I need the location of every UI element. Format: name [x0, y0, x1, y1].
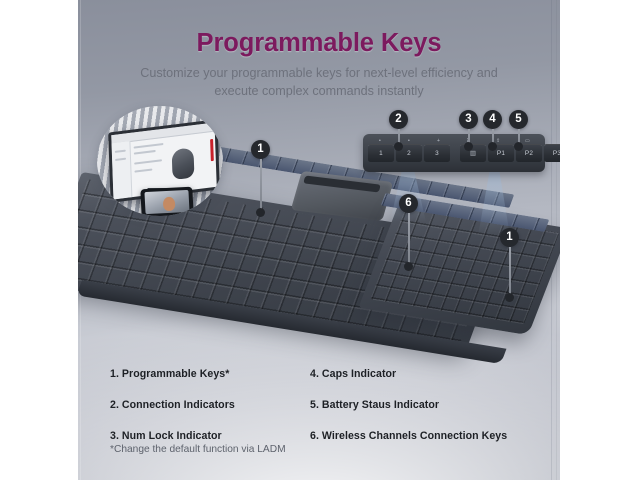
software-text-line — [134, 143, 164, 149]
callout-tip — [488, 142, 497, 151]
programmable-key-group: ▥ P1 P2 P3 — [460, 144, 560, 162]
callout-badge: 1 — [500, 228, 519, 247]
wireless-channel-key-group: 1 2 3 — [368, 144, 450, 162]
callout-tip — [256, 208, 265, 217]
callout-tip — [514, 142, 523, 151]
callout-badge: 5 — [509, 110, 528, 129]
phone-device — [140, 187, 193, 216]
callout-stem — [260, 159, 262, 211]
programmable-key-p3[interactable]: P3 — [544, 144, 560, 162]
battery-led-label: ▭ — [525, 138, 530, 144]
page-subtitle: Customize your programmable keys for nex… — [118, 64, 520, 100]
software-text-line — [134, 168, 152, 172]
software-text-line — [134, 159, 162, 164]
legend-footnote: *Change the default function via LADM — [110, 444, 286, 455]
legend-item-2: 2. Connection Indicators — [110, 399, 310, 411]
callout-tip — [394, 142, 403, 151]
product-feature-panel: Programmable Keys Customize your program… — [78, 0, 560, 480]
channel-key-1[interactable]: 1 — [368, 144, 394, 162]
connection-led-3-label: + — [437, 138, 440, 144]
caps-led-label: ⇪ — [496, 138, 500, 144]
callout-tip — [505, 293, 514, 302]
channel-key-3[interactable]: 3 — [424, 144, 450, 162]
legend-item-3: 3. Num Lock Indicator — [110, 430, 310, 442]
software-inset-photo — [97, 106, 223, 216]
callout-tip — [404, 262, 413, 271]
connection-led-2-label: • — [408, 138, 410, 144]
callout-tip — [464, 142, 473, 151]
callout-stem — [509, 247, 511, 296]
callout-stem — [408, 213, 410, 265]
legend-item-1: 1. Programmable Keys* — [110, 368, 310, 380]
legend-item-5: 5. Battery Staus Indicator — [310, 399, 540, 411]
callout-badge: 2 — [389, 110, 408, 129]
mouse-product-render — [172, 147, 195, 180]
legend-item-4: 4. Caps Indicator — [310, 368, 540, 380]
page-title: Programmable Keys — [78, 29, 560, 58]
phone-screen — [144, 190, 189, 214]
screenshot-root: Programmable Keys Customize your program… — [0, 0, 640, 480]
callout-badge: 6 — [399, 194, 418, 213]
callout-badge: 3 — [459, 110, 478, 129]
monitor-accent-stripe — [210, 139, 214, 161]
legend-grid: 1. Programmable Keys* 4. Caps Indicator … — [110, 368, 540, 442]
legend: 1. Programmable Keys* 4. Caps Indicator … — [110, 368, 540, 442]
software-text-line — [134, 150, 156, 155]
connection-led-1-label: • — [379, 138, 381, 144]
person-on-screen — [163, 197, 176, 212]
callout-badge: 1 — [251, 140, 270, 159]
callout-badge: 4 — [483, 110, 502, 129]
legend-item-6: 6. Wireless Channels Connection Keys — [310, 430, 540, 442]
